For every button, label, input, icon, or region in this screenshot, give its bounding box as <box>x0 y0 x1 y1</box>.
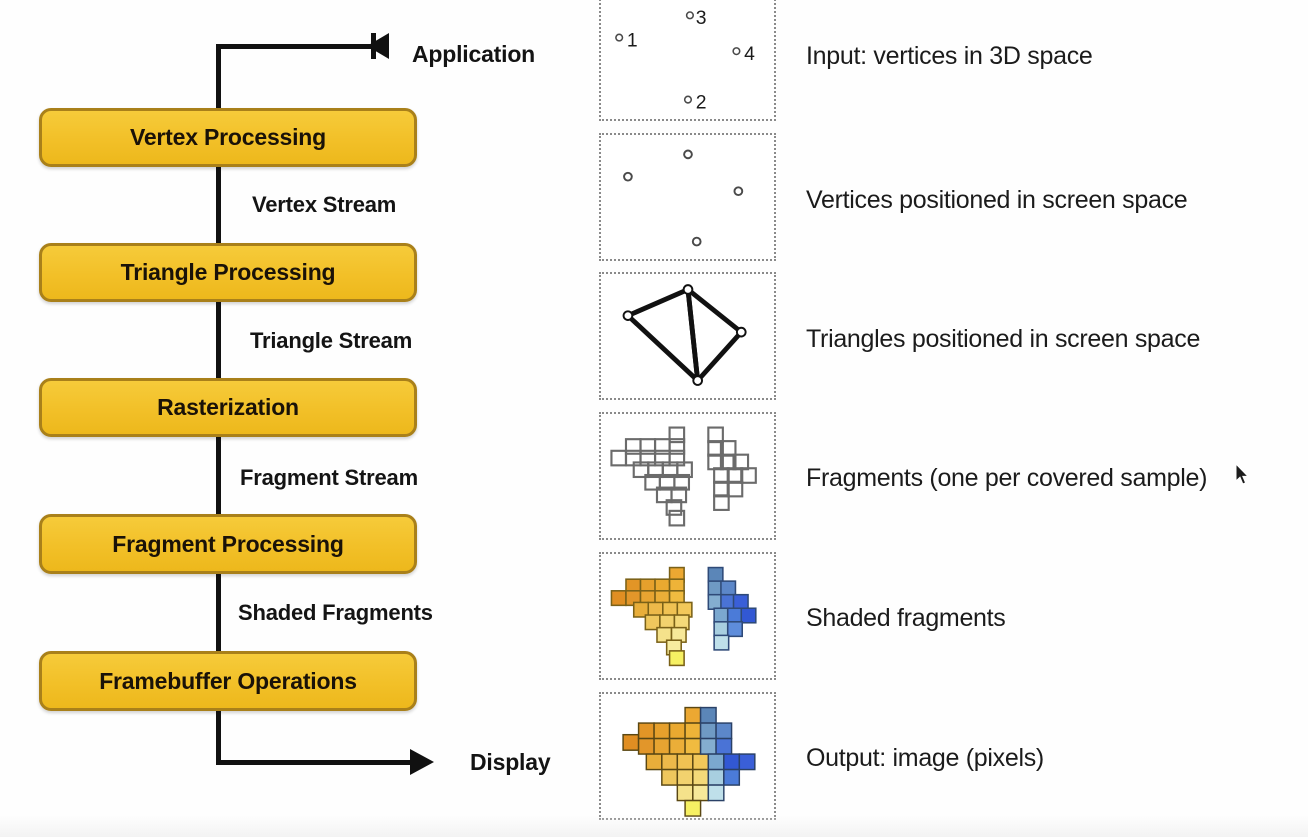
row-label-shaded-fragments: Shaded fragments <box>806 604 1006 633</box>
panel-vertices-screen <box>599 133 776 261</box>
row-label-output-image: Output: image (pixels) <box>806 744 1044 773</box>
panel-triangles-screen <box>599 272 776 400</box>
stage-box-triangle-processing[interactable]: Triangle Processing <box>39 243 417 302</box>
panel-vertices-3d-graphic: 1 3 4 2 <box>601 0 774 119</box>
stream-label-shaded-fragments: Shaded Fragments <box>238 600 433 626</box>
stage-label: Framebuffer Operations <box>99 668 357 695</box>
pipeline-line-display <box>216 760 412 765</box>
display-arrow-head <box>410 749 434 775</box>
display-label: Display <box>470 749 550 776</box>
stage-label: Fragment Processing <box>112 531 343 558</box>
svg-text:3: 3 <box>696 7 707 29</box>
panel-fragments <box>599 412 776 540</box>
row-label-vertices-screen: Vertices positioned in screen space <box>806 186 1187 215</box>
panel-shaded-fragments <box>599 552 776 680</box>
panel-triangles-screen-graphic <box>601 274 774 398</box>
row-label-fragments: Fragments (one per covered sample) <box>806 464 1207 493</box>
application-arrow-head <box>367 33 389 59</box>
row-label-vertices-3d: Input: vertices in 3D space <box>806 42 1093 71</box>
stage-label: Rasterization <box>157 394 299 421</box>
panel-shaded-fragments-graphic <box>601 554 774 678</box>
panel-output-image-graphic <box>601 694 774 818</box>
stage-box-framebuffer-operations[interactable]: Framebuffer Operations <box>39 651 417 711</box>
connector-vertex-stream <box>216 167 221 243</box>
stream-label-fragment-stream: Fragment Stream <box>240 465 418 491</box>
svg-text:1: 1 <box>627 29 638 51</box>
mouse-cursor-icon <box>1236 464 1250 486</box>
stage-box-fragment-processing[interactable]: Fragment Processing <box>39 514 417 574</box>
panel-output-image <box>599 692 776 820</box>
connector-shaded-fragments <box>216 574 221 651</box>
stream-label-triangle-stream: Triangle Stream <box>250 328 412 354</box>
bottom-fade <box>0 815 1308 837</box>
stream-label-vertex-stream: Vertex Stream <box>252 192 396 218</box>
panel-vertices-3d: 1 3 4 2 <box>599 0 776 121</box>
pipeline-line-application <box>216 44 374 49</box>
stage-label: Triangle Processing <box>121 259 336 286</box>
connector-triangle-stream <box>216 302 221 378</box>
diagram-canvas: Application Vertex Processing Vertex Str… <box>0 0 1308 837</box>
stage-box-vertex-processing[interactable]: Vertex Processing <box>39 108 417 167</box>
stage-box-rasterization[interactable]: Rasterization <box>39 378 417 437</box>
svg-text:4: 4 <box>744 43 755 65</box>
stage-label: Vertex Processing <box>130 124 326 151</box>
panel-fragments-graphic <box>601 414 774 538</box>
panel-vertices-screen-graphic <box>601 135 774 259</box>
connector-fragment-stream <box>216 437 221 514</box>
application-label: Application <box>412 41 535 68</box>
svg-text:2: 2 <box>696 91 707 113</box>
pipeline-line-bottom <box>216 711 221 765</box>
row-label-triangles-screen: Triangles positioned in screen space <box>806 325 1200 354</box>
